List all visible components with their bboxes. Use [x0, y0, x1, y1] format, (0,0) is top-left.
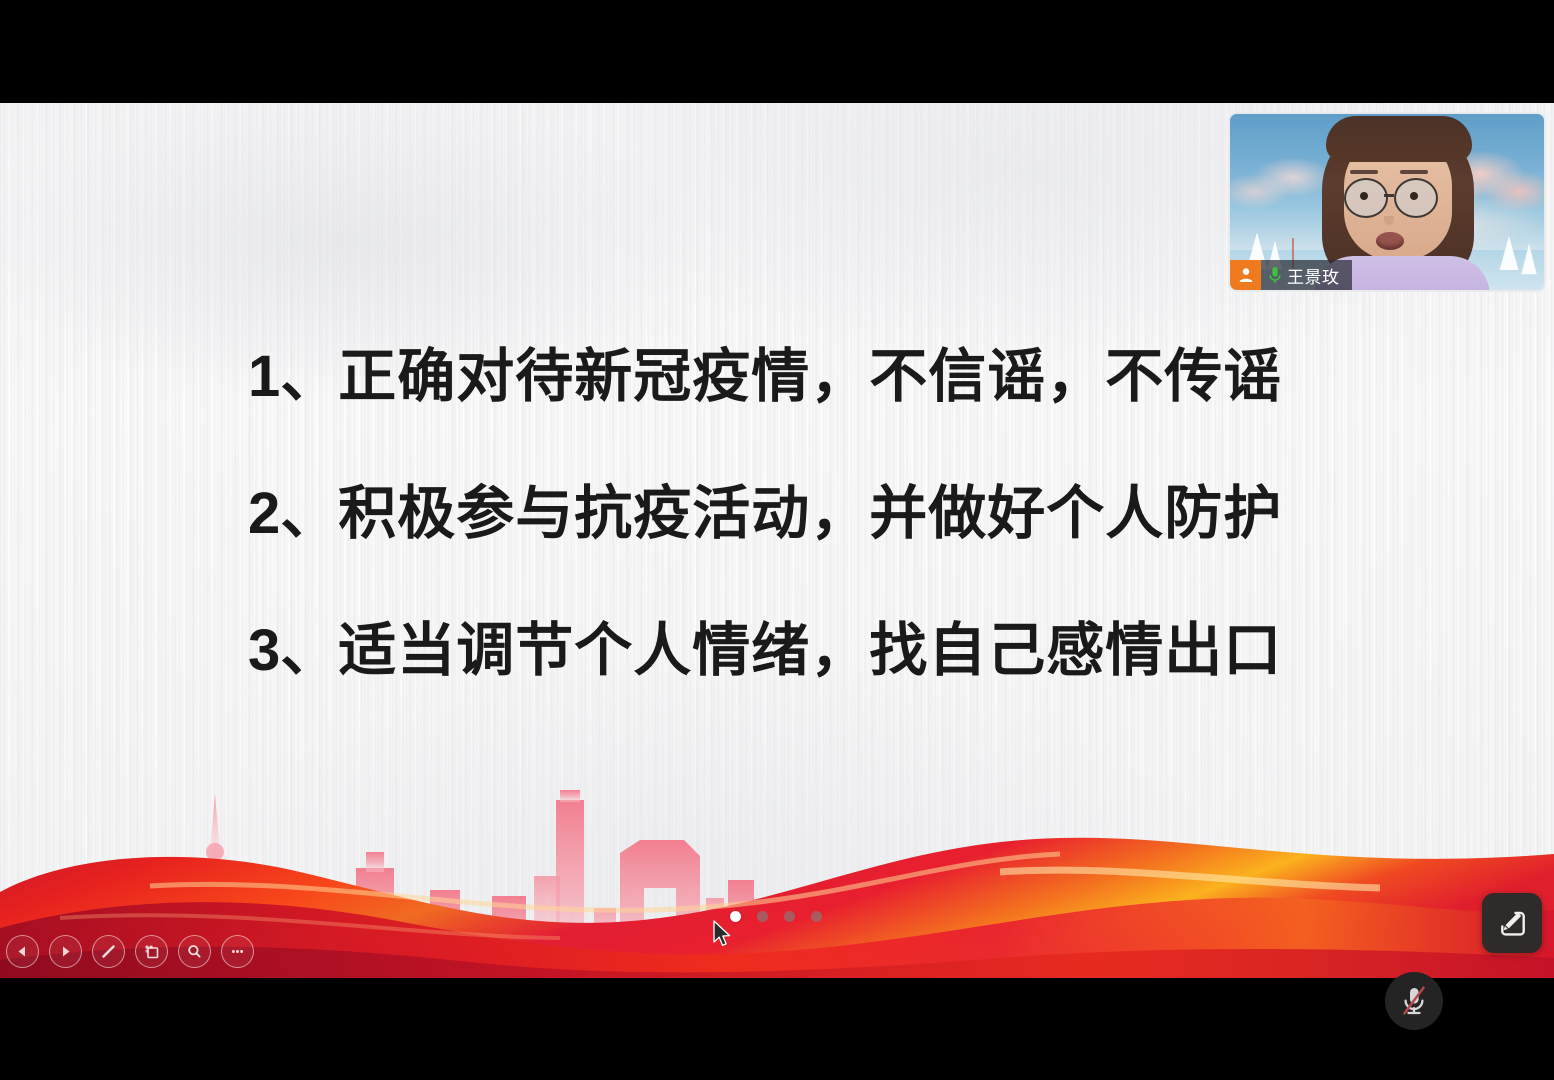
- page-dot-4[interactable]: [811, 911, 822, 922]
- portrait-glasses-bridge: [1384, 194, 1394, 197]
- video-tile-name-bar: 王景玫: [1230, 260, 1352, 290]
- magnifier-icon: [186, 943, 203, 960]
- microphone-on-icon: [1268, 266, 1282, 285]
- slide-overview-button[interactable]: [135, 935, 168, 968]
- portrait-eye-right: [1410, 192, 1418, 200]
- portrait-brow-left: [1350, 170, 1378, 174]
- pen-icon: [100, 943, 117, 960]
- more-options-button[interactable]: [221, 935, 254, 968]
- participant-name-group: 王景玫: [1261, 260, 1352, 290]
- participant-person-icon: [1237, 266, 1255, 284]
- portrait-eye-left: [1360, 192, 1368, 200]
- slide-control-toolbar[interactable]: [6, 935, 254, 968]
- slide-bullet-3-text: 适当调节个人情绪，找自己感情出口: [338, 618, 1282, 683]
- portrait-brow-right: [1400, 170, 1428, 174]
- slide-bullet-1: 1、正确对待新冠疫情，不信谣，不传谣: [248, 346, 1282, 409]
- zoom-magnifier-button[interactable]: [178, 935, 211, 968]
- slide-bullet-1-number: 1、: [248, 344, 338, 409]
- annotate-pencil-icon: [1495, 906, 1529, 940]
- slide-bullet-3: 3、适当调节个人情绪，找自己感情出口: [248, 620, 1282, 683]
- next-slide-button[interactable]: [49, 935, 82, 968]
- microphone-muted-icon: [1399, 984, 1429, 1018]
- page-dot-2[interactable]: [757, 911, 768, 922]
- portrait-bangs: [1326, 116, 1472, 162]
- slide-bullet-2: 2、积极参与抗疫活动，并做好个人防护: [248, 483, 1282, 546]
- video-background-sailboat-4: [1521, 244, 1536, 275]
- ellipsis-icon: [229, 943, 246, 960]
- slide-bullet-3-number: 3、: [248, 618, 338, 683]
- previous-slide-button[interactable]: [6, 935, 39, 968]
- previous-slide-icon: [15, 944, 30, 959]
- slide-bullet-2-text: 积极参与抗疫活动，并做好个人防护: [338, 481, 1282, 546]
- mute-microphone-button[interactable]: [1385, 972, 1443, 1030]
- slide-page-indicator[interactable]: [730, 911, 822, 922]
- next-slide-icon: [58, 944, 73, 959]
- annotate-button[interactable]: [1482, 893, 1542, 953]
- slide-bullet-1-text: 正确对待新冠疫情，不信谣，不传谣: [338, 344, 1282, 409]
- participant-role-badge: [1230, 260, 1261, 290]
- portrait-mouth: [1376, 232, 1404, 250]
- page-dot-3[interactable]: [784, 911, 795, 922]
- page-dot-1[interactable]: [730, 911, 741, 922]
- video-background-sailboat-3: [1500, 236, 1519, 270]
- participant-name-label: 王景玫: [1287, 263, 1340, 288]
- slide-grid-icon: [143, 943, 160, 960]
- participant-video-tile[interactable]: 王景玫: [1228, 112, 1546, 292]
- pen-tool-button[interactable]: [92, 935, 125, 968]
- screen-root: 1、正确对待新冠疫情，不信谣，不传谣 2、积极参与抗疫活动，并做好个人防护 3、…: [0, 0, 1554, 1080]
- slide-bullet-2-number: 2、: [248, 481, 338, 546]
